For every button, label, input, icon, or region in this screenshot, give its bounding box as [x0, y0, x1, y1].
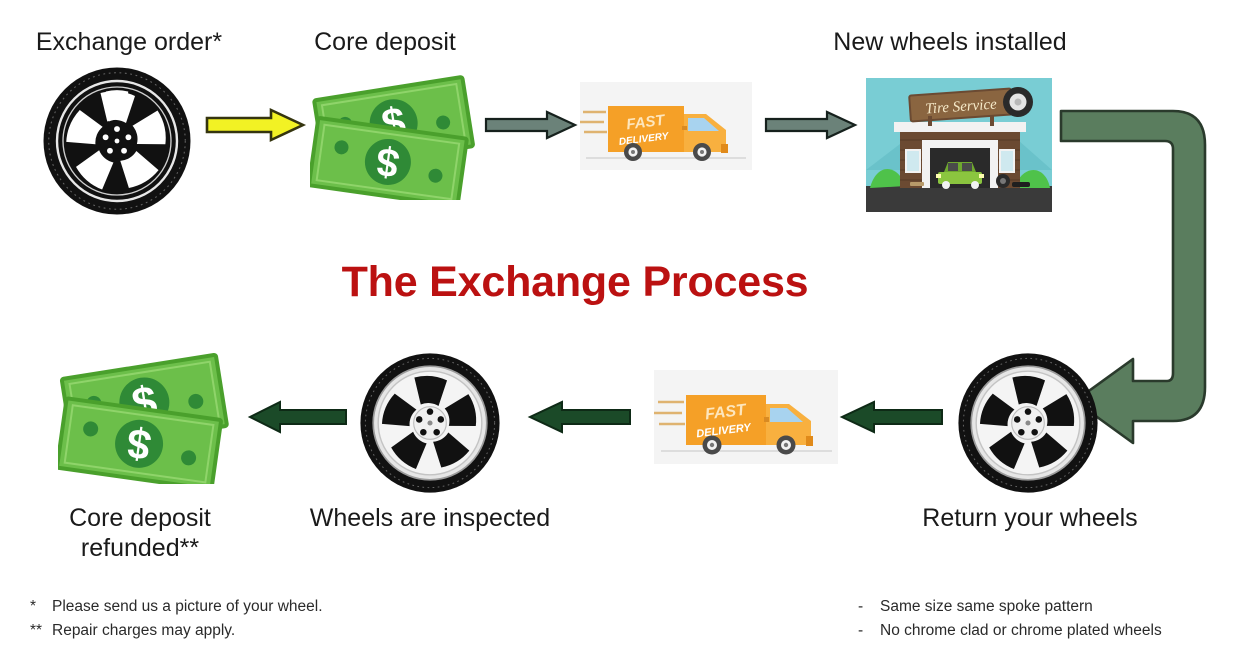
silver-wheel-icon-inspected: [356, 352, 504, 494]
arrow-grey-green-right-1: [485, 110, 577, 140]
arrow-grey-green-right-2: [765, 110, 857, 140]
delivery-truck-icon-top: FAST DELIVERY: [580, 82, 752, 170]
footnote-marker: **: [30, 619, 52, 643]
refund-label-line1: Core deposit: [20, 504, 260, 534]
footnote-text: No chrome clad or chrome plated wheels: [880, 622, 1162, 639]
footnote-text: Same size same spoke pattern: [880, 598, 1093, 615]
footnote-right-1: -Same size same spoke pattern: [858, 595, 1248, 619]
arrow-yellow-right: [205, 108, 305, 142]
step-label-core-deposit-refunded: Core deposit refunded**: [20, 504, 260, 563]
footnote-marker: -: [858, 619, 880, 643]
footnote-text: Please send us a picture of your wheel.: [52, 598, 323, 615]
silver-wheel-icon-return: [954, 352, 1102, 494]
footnotes-right: -Same size same spoke pattern -No chrome…: [858, 595, 1248, 643]
footnote-text: Repair charges may apply.: [52, 622, 235, 639]
footnote-left-1: *Please send us a picture of your wheel.: [30, 595, 460, 619]
arrow-dark-green-left-1: [248, 400, 348, 434]
black-wheel-icon: [38, 66, 196, 216]
footnotes-left: *Please send us a picture of your wheel.…: [30, 595, 460, 643]
arrow-dark-green-left-3: [840, 400, 944, 434]
exchange-process-diagram: Exchange order* Core deposit New wheels …: [0, 0, 1250, 666]
step-label-exchange-order: Exchange order*: [0, 28, 258, 58]
tire-service-garage-icon: Tire Service: [866, 78, 1052, 212]
money-icon-bottom: $ $: [58, 352, 236, 484]
arrow-dark-green-left-2: [528, 400, 632, 434]
step-label-return-your-wheels: Return your wheels: [890, 504, 1170, 534]
page-title: The Exchange Process: [0, 258, 1150, 307]
footnote-right-2: -No chrome clad or chrome plated wheels: [858, 619, 1248, 643]
footnote-left-2: **Repair charges may apply.: [30, 619, 460, 643]
step-label-wheels-inspected: Wheels are inspected: [292, 504, 568, 534]
money-icon-top: $ $: [310, 74, 480, 200]
refund-label-line2: refunded**: [20, 534, 260, 564]
delivery-truck-icon-bottom: FAST DELIVERY: [654, 370, 838, 464]
step-label-core-deposit: Core deposit: [265, 28, 505, 58]
footnote-marker: *: [30, 595, 52, 619]
footnote-marker: -: [858, 595, 880, 619]
step-label-new-wheels-installed: New wheels installed: [800, 28, 1100, 58]
